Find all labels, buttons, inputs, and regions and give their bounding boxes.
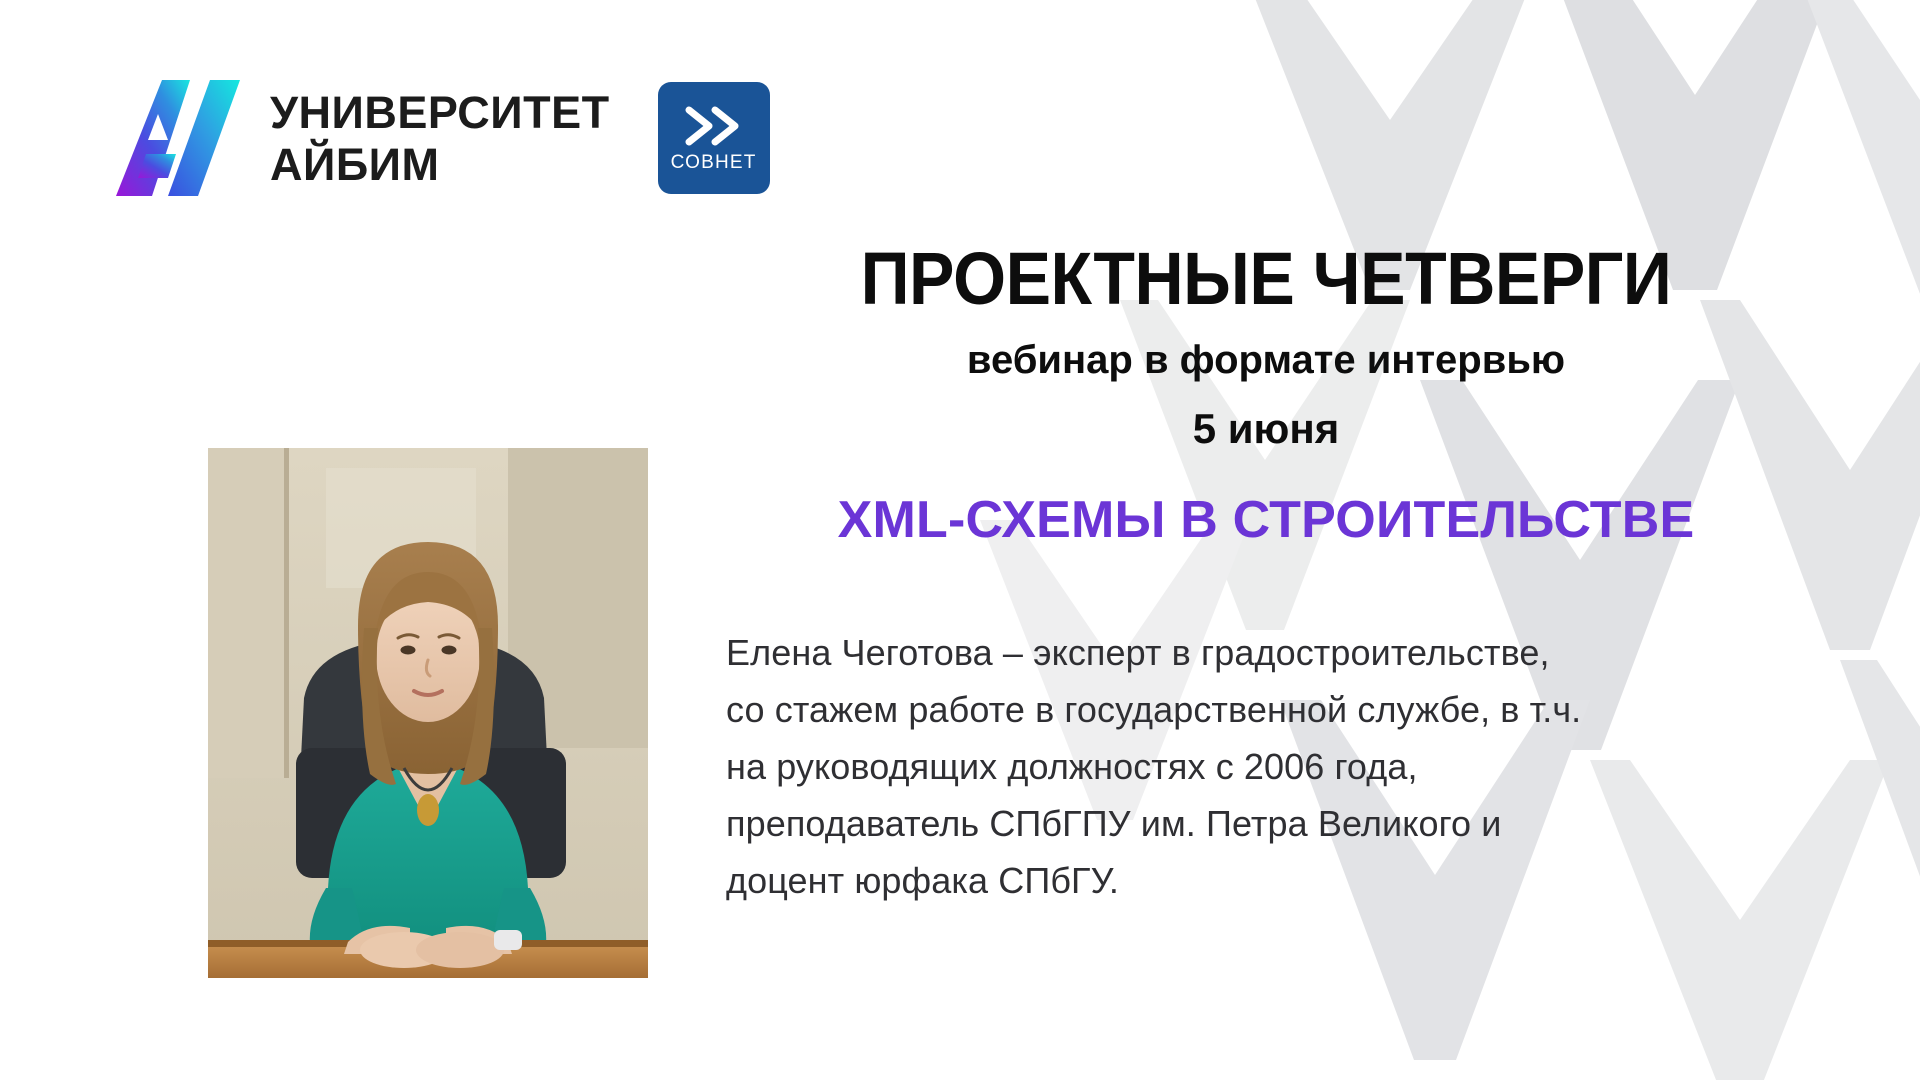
chevron-watermark-icon (1840, 660, 1920, 990)
event-title: ПРОЕКТНЫЕ ЧЕТВЕРГИ (760, 242, 1772, 316)
sovnet-badge-label: СОВНЕТ (671, 152, 757, 174)
chevron-watermark-icon (1800, 0, 1920, 320)
webinar-announcement-poster: УНИВЕРСИТЕТ АЙБИМ СОВНЕТ (0, 0, 1920, 1080)
speaker-bio: Елена Чеготова – эксперт в градостроител… (726, 625, 1816, 909)
speaker-bio-line: доцент юрфака СПбГУ. (726, 853, 1816, 910)
event-date: 5 июня (716, 406, 1816, 452)
brand-name-line2: АЙБИМ (270, 142, 610, 187)
brand-name-line1: УНИВЕРСИТЕТ (270, 90, 610, 135)
speaker-bio-line: Елена Чеготова – эксперт в градостроител… (726, 625, 1816, 682)
double-chevron-right-icon (683, 106, 745, 146)
sovnet-partner-badge: СОВНЕТ (658, 82, 770, 194)
event-content-column: ПРОЕКТНЫЕ ЧЕТВЕРГИ вебинар в формате инт… (716, 242, 1816, 910)
speaker-bio-line: со стажем работе в государственной служб… (726, 682, 1816, 739)
brand-name: УНИВЕРСИТЕТ АЙБИМ (270, 90, 610, 187)
event-format-subtitle: вебинар в формате интервью (716, 338, 1816, 382)
speaker-portrait-photo (208, 448, 648, 978)
speaker-bio-line: преподаватель СПбГПУ им. Петра Великого … (726, 796, 1816, 853)
event-topic-headline: XML-СХЕМЫ В СТРОИТЕЛЬСТВЕ (716, 492, 1816, 549)
aibim-a-slash-logo-icon (112, 78, 244, 198)
brand-logo-lockup: УНИВЕРСИТЕТ АЙБИМ СОВНЕТ (112, 78, 770, 198)
speaker-bio-line: на руководящих должностях с 2006 года, (726, 739, 1816, 796)
